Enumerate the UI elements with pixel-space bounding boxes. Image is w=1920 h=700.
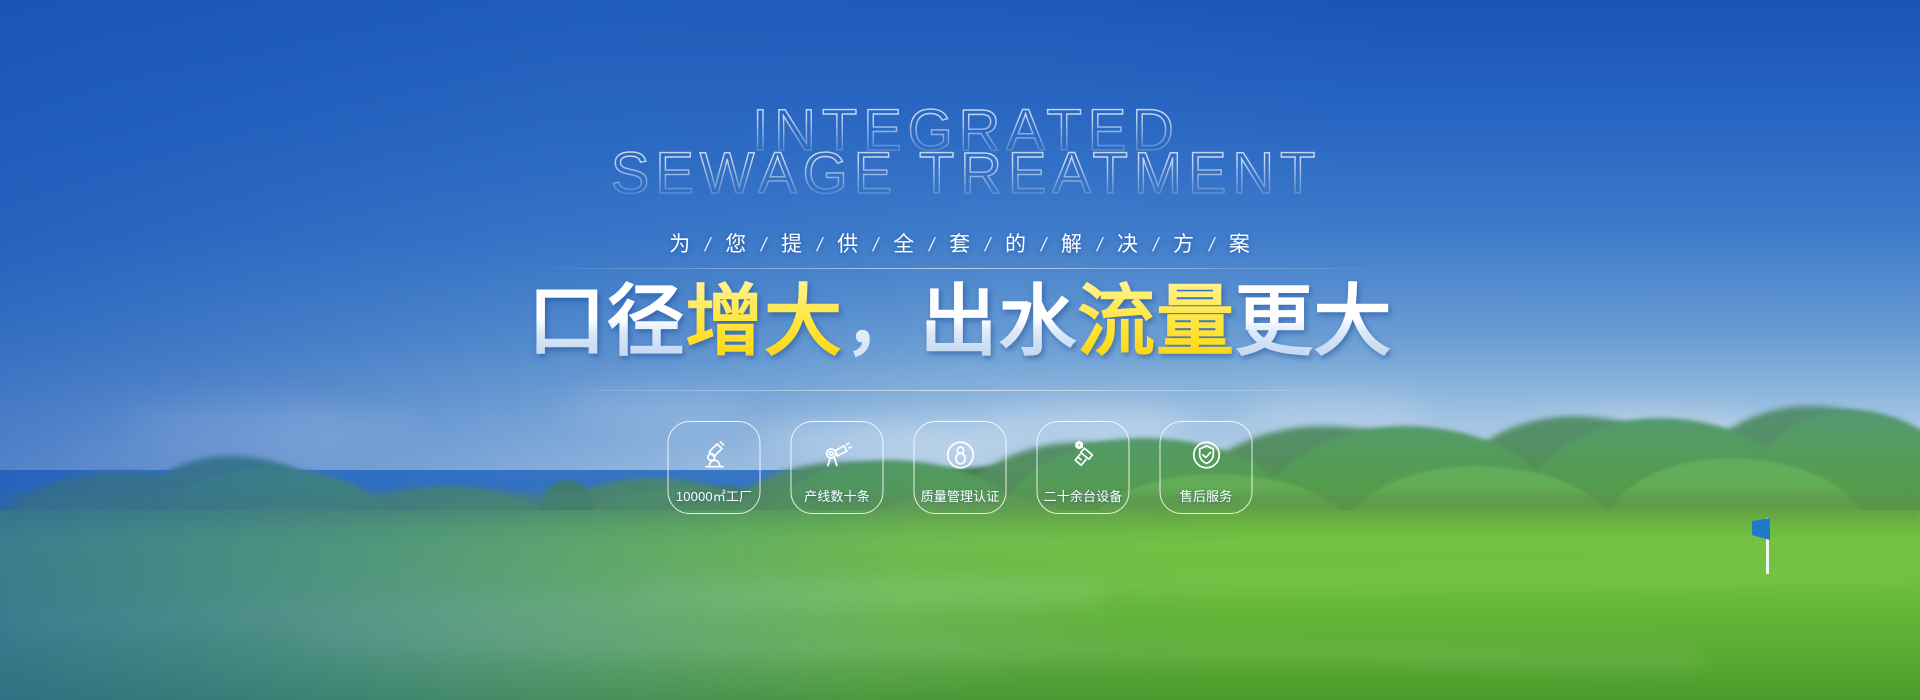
headline-segment: 口径: [528, 277, 686, 367]
slogan-char: 解: [1061, 228, 1083, 258]
feature-badge-label: 产线数十条: [804, 486, 870, 505]
slogan-line: 为/您/提/供/全/套/的/解/决/方/案: [0, 228, 1920, 258]
hero-banner: INTEGRATED SEWAGE TREATMENT 为/您/提/供/全/套/…: [0, 0, 1920, 700]
slogan-separator: /: [1095, 235, 1106, 257]
feature-badge[interactable]: 二十余台设备: [1037, 421, 1130, 514]
slogan-separator: /: [815, 235, 826, 257]
feature-badge[interactable]: 产线数十条: [791, 421, 884, 514]
production-line-icon: [820, 438, 854, 472]
machinery-icon: [1066, 438, 1100, 472]
slogan-char: 决: [1117, 228, 1139, 258]
headline-segment: 流量: [1077, 277, 1235, 367]
slogan-separator: /: [1150, 235, 1161, 257]
divider-bottom: [520, 390, 1400, 391]
feature-badge-label: 二十余台设备: [1044, 486, 1123, 505]
slogan-char: 全: [893, 228, 915, 258]
shield-check-icon: [1189, 438, 1223, 472]
microscope-icon: [697, 438, 731, 472]
slogan-char: 的: [1005, 228, 1027, 258]
feature-badge-label: 10000㎡工厂: [676, 486, 752, 505]
feature-badge[interactable]: 质量管理认证: [914, 421, 1007, 514]
divider-top: [520, 268, 1400, 269]
feature-badge[interactable]: 10000㎡工厂: [668, 421, 761, 514]
headline-segment: 出水: [920, 277, 1078, 367]
certificate-medal-icon: [943, 438, 977, 472]
slogan-char: 套: [949, 228, 971, 258]
main-headline: 口径增大，出水流量更大: [0, 282, 1920, 364]
english-headline-line-2: SEWAGE TREATMENT: [6, 140, 1920, 207]
slogan-char: 您: [725, 228, 747, 258]
slogan-char: 提: [781, 228, 803, 258]
slogan-char: 方: [1173, 228, 1195, 258]
slogan-separator: /: [983, 235, 994, 257]
slogan-separator: /: [871, 235, 882, 257]
slogan-separator: /: [1039, 235, 1050, 257]
slogan-separator: /: [759, 235, 770, 257]
headline-segment: 增大: [685, 277, 843, 367]
slogan-separator: /: [927, 235, 938, 257]
feature-badge-list: 10000㎡工厂产线数十条质量管理认证二十余台设备售后服务: [668, 421, 1253, 514]
feature-badge-label: 质量管理认证: [921, 486, 1000, 505]
banner-content: INTEGRATED SEWAGE TREATMENT 为/您/提/供/全/套/…: [0, 0, 1920, 700]
slogan-char: 为: [669, 228, 691, 258]
feature-badge-label: 售后服务: [1180, 486, 1233, 505]
slogan-separator: /: [1206, 235, 1217, 257]
slogan-char: 案: [1229, 228, 1251, 258]
slogan-char: 供: [837, 228, 859, 258]
headline-segment: ，: [843, 281, 920, 365]
headline-segment: 更大: [1235, 277, 1393, 367]
slogan-separator: /: [703, 235, 714, 257]
feature-badge[interactable]: 售后服务: [1160, 421, 1253, 514]
